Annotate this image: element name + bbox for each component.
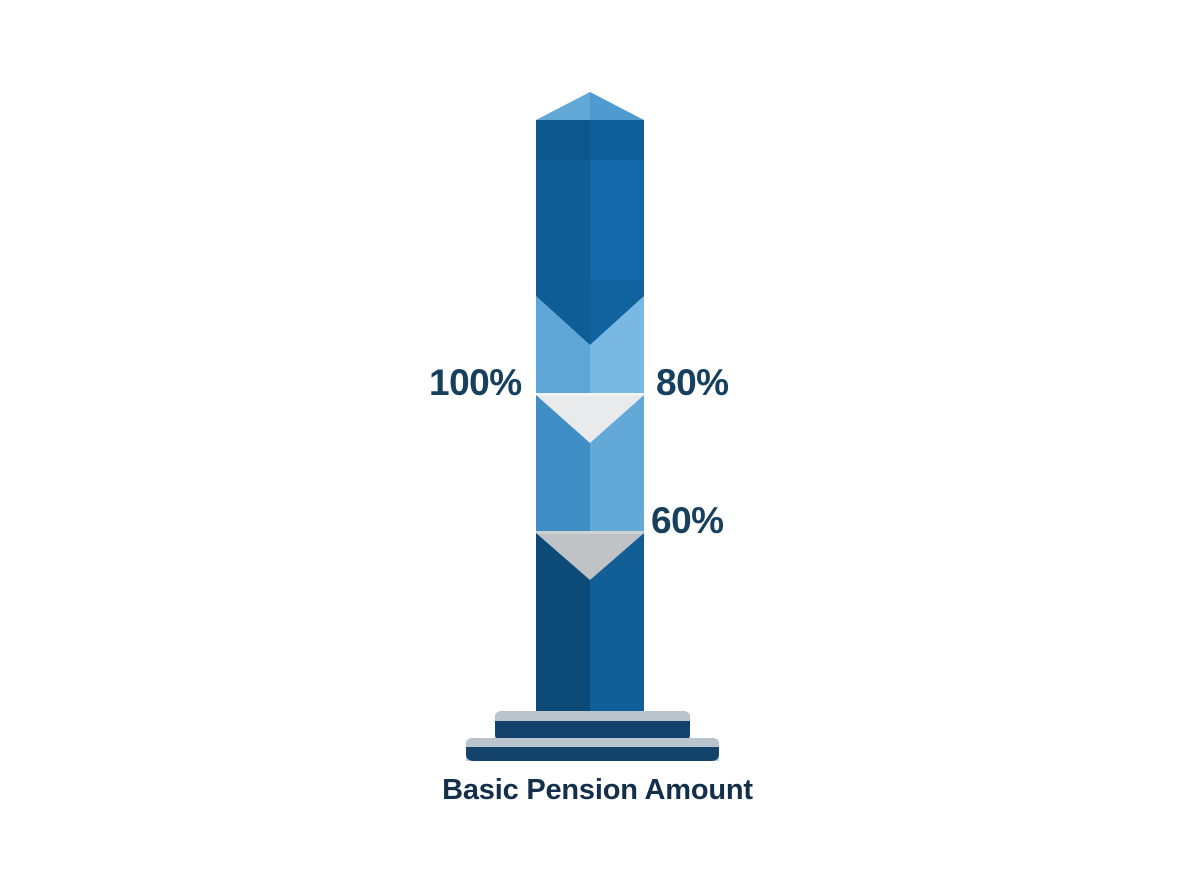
illustration-canvas: 100% 80% 60% Basic Pension Amount [0,0,1195,896]
top-section-upper-shade [536,120,644,160]
lower-plinth-gradient-shade [466,747,719,761]
base-lower-plinth [466,738,719,761]
upper-plinth-top-highlight [495,711,690,721]
label-100-percent: 100% [429,364,522,401]
gray-chevron-edge-highlight [536,531,644,534]
pension-tower-illustration [0,0,1195,896]
cap-left-face [536,92,590,120]
label-60-percent: 60% [651,502,724,539]
white-chevron-edge-highlight [536,393,644,396]
base-upper-plinth [495,711,690,741]
chart-caption: Basic Pension Amount [0,776,1195,805]
lower-plinth-top-highlight [466,738,719,747]
cap-right-face [590,92,644,120]
label-80-percent: 80% [656,364,729,401]
